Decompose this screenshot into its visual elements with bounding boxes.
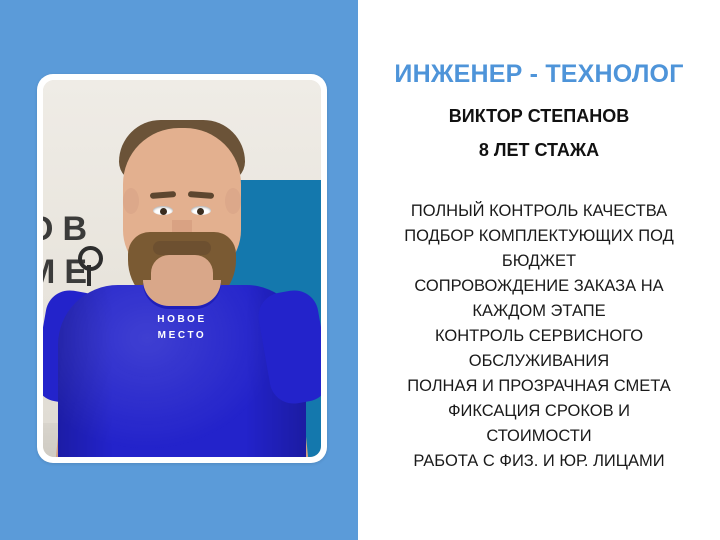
person-figure: НОВОЕ МЕСТО xyxy=(43,80,321,457)
photo-frame: ОВ МЕ ИНЖЕ xyxy=(37,74,327,463)
services-line: ПОЛНАЯ И ПРОЗРАЧНАЯ СМЕТА xyxy=(364,374,714,399)
tshirt-logo: НОВОЕ МЕСТО xyxy=(157,312,206,343)
services-list: ПОЛНЫЙ КОНТРОЛЬ КАЧЕСТВА ПОДБОР КОМПЛЕКТ… xyxy=(364,199,714,474)
left-ear xyxy=(123,188,139,214)
right-pupil xyxy=(197,208,204,215)
services-line: ПОЛНЫЙ КОНТРОЛЬ КАЧЕСТВА xyxy=(364,199,714,224)
services-line: КАЖДОМ ЭТАПЕ xyxy=(364,299,714,324)
moustache xyxy=(153,241,211,255)
left-pupil xyxy=(160,208,167,215)
portrait-photo: ОВ МЕ ИНЖЕ xyxy=(43,80,321,457)
info-column: ИНЖЕНЕР - ТЕХНОЛОГ ВИКТОР СТЕПАНОВ 8 ЛЕТ… xyxy=(358,0,720,540)
services-line: ПОДБОР КОМПЛЕКТУЮЩИХ ПОД xyxy=(364,224,714,249)
right-ear xyxy=(225,188,241,214)
tshirt-logo-line-2: МЕСТО xyxy=(157,328,206,344)
tshirt-logo-line-1: НОВОЕ xyxy=(157,312,206,328)
services-line: ОБСЛУЖИВАНИЯ xyxy=(364,349,714,374)
person-name: ВИКТОР СТЕПАНОВ xyxy=(358,106,720,127)
services-line: КОНТРОЛЬ СЕРВИСНОГО xyxy=(364,324,714,349)
services-line: БЮДЖЕТ xyxy=(364,249,714,274)
promo-card: ОВ МЕ ИНЖЕ xyxy=(0,0,720,540)
services-line: СТОИМОСТИ xyxy=(364,424,714,449)
experience-label: 8 ЛЕТ СТАЖА xyxy=(358,140,720,161)
role-title: ИНЖЕНЕР - ТЕХНОЛОГ xyxy=(358,60,720,89)
services-line: РАБОТА С ФИЗ. И ЮР. ЛИЦАМИ xyxy=(364,449,714,474)
blue-tshirt xyxy=(58,285,306,457)
services-line: СОПРОВОЖДЕНИЕ ЗАКАЗА НА xyxy=(364,274,714,299)
tshirt-shading xyxy=(58,285,306,457)
services-line: ФИКСАЦИЯ СРОКОВ И xyxy=(364,399,714,424)
